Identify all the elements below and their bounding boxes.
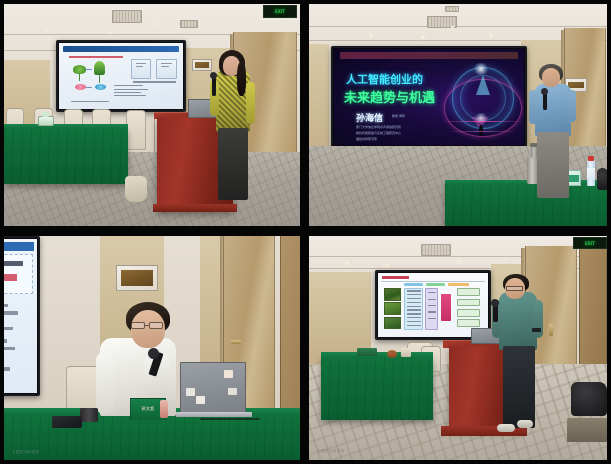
conference-table [4,128,128,184]
podium-base [153,204,237,212]
presenter-arm [529,90,538,124]
laptop-keyboard [176,412,252,417]
presenter-arm [96,352,114,414]
slide-outcome-box [457,309,480,317]
glasses-bridge [145,325,149,326]
slide-column-header [404,283,423,287]
ceiling-light-icon [505,258,508,260]
microphone-head-icon [148,348,159,359]
presenter-face [542,68,560,87]
slide-presenter-role: 教授 博导 [392,114,405,118]
table-item [38,116,54,126]
chair [66,366,100,414]
presentation-display [56,40,186,112]
ceiling-light-icon [457,260,461,263]
door-handle-icon [231,340,241,344]
presentation-display: 人工智能创业的 未来趋势与机遇 孙海信 教授 博导 厦门大学信息学院水声通信研究… [331,46,527,148]
slide-presenter-name: 孙海信 [356,111,383,124]
ceiling-light-icon [421,36,425,39]
photo-watermark: 中国农业科学院 [12,215,40,220]
cup [80,408,98,422]
slide-content [4,239,37,393]
glasses-icon [506,286,523,291]
laptop-sticker [224,370,233,378]
ceiling-light-icon [385,264,389,267]
conference-table [321,357,433,420]
table-item [42,112,49,117]
ceiling-vent-icon [180,20,198,28]
wall-plaque [192,59,212,71]
name-plate-label: 郭文超 [142,406,155,412]
ceiling-light-icon [154,23,157,25]
presenter-arm [533,300,543,338]
presenter-arm [567,90,576,122]
slide-column-header [426,283,445,287]
photo-watermark: 中国农业科学院 [317,449,345,454]
photo-top-left[interactable]: EXIT [4,4,300,226]
laptop-sticker [186,388,195,396]
exit-sign-label: EXIT [585,241,595,246]
slide-content [59,43,183,109]
water-bottle [587,160,595,186]
ceiling-vent-icon [421,244,451,256]
slide-text-1 [4,261,23,266]
slide-title-line2: 未来趋势与机遇 [344,87,435,106]
presentation-display [4,236,40,396]
conference-table [445,184,607,226]
presenter-shoe [497,424,515,432]
wall-picture [116,265,158,291]
presenter-trousers [537,132,569,198]
slide-content: 人工智能创业的 未来趋势与机遇 孙海信 教授 博导 厦门大学信息学院水声通信研究… [334,49,524,145]
presenter-trousers [503,346,535,428]
floor-bag [597,168,607,190]
table-item [357,348,377,356]
slide-affiliation-1: 厦门大学信息学院水声通信研究所 [356,125,401,129]
ceiling-light-icon [489,34,493,37]
room-door [280,236,300,432]
glasses-icon [131,322,145,329]
cable [200,418,260,420]
photo-collage: EXIT [0,0,611,464]
exit-sign: EXIT [573,237,607,249]
exit-sign-label: EXIT [275,9,285,14]
table-item [401,348,411,357]
presenter-arm [246,82,255,124]
presenter-hair [237,62,246,96]
bottle-cap-icon [588,156,594,161]
slide-outcome-box [457,319,480,327]
slide-text-2 [4,274,17,280]
photo-top-right[interactable]: 人工智能创业的 未来趋势与机遇 孙海信 教授 博导 厦门大学信息学院水声通信研究… [309,4,607,226]
slide-affiliation-3: 福建省特聚专家 [356,137,377,141]
phone [52,416,82,428]
ceiling-light-icon [108,31,112,34]
slide-banner [340,52,519,59]
presenter-body [499,292,537,350]
ceiling-light-icon [451,26,454,28]
slide-outcome-box [457,288,480,296]
slide-photo [384,288,402,301]
photo-bottom-left[interactable]: 郭文超 中国农业科学院 [4,236,300,460]
slide-photo [384,317,402,330]
floor-bag [125,176,147,202]
microphone-head-icon [210,72,217,79]
door-handle-icon [549,324,553,336]
ceiling-vent-icon [112,10,142,23]
microphone-head-icon [541,88,548,95]
glasses-icon [149,322,163,329]
photo-watermark: 中国农业科学院 [12,450,40,455]
chair [126,110,146,150]
conference-table [4,414,300,460]
ceiling-light-icon [345,262,349,265]
slide-affiliation-2: 禄共智能装备与系统工程研究中心 [356,131,401,135]
microphone-head-icon [491,299,499,307]
slide-title-bar [63,46,180,52]
wristwatch-icon [532,328,541,332]
slide-heading [382,276,408,279]
ceiling-vent-icon [445,6,459,12]
table-item [387,350,397,358]
laptop-sticker [228,388,237,395]
presenter-skirt [218,128,248,200]
slide-outcome-box [457,299,480,307]
microphone [212,76,216,96]
slide-center-block [441,294,451,321]
exit-sign: EXIT [263,5,297,18]
slide-column-header [448,283,469,287]
presenter-shoe [517,420,533,428]
ceiling-light-icon [369,34,373,37]
name-plate-decor [160,400,168,418]
floor-bag [571,382,607,416]
laptop-sticker [196,396,205,404]
floor-step [567,418,607,442]
slide-title-line1: 人工智能创业的 [346,71,423,87]
presenter-face [131,310,165,348]
ceiling-light-icon [44,28,48,31]
photo-bottom-right[interactable]: EXIT [309,236,607,460]
slide-photo [384,302,402,315]
